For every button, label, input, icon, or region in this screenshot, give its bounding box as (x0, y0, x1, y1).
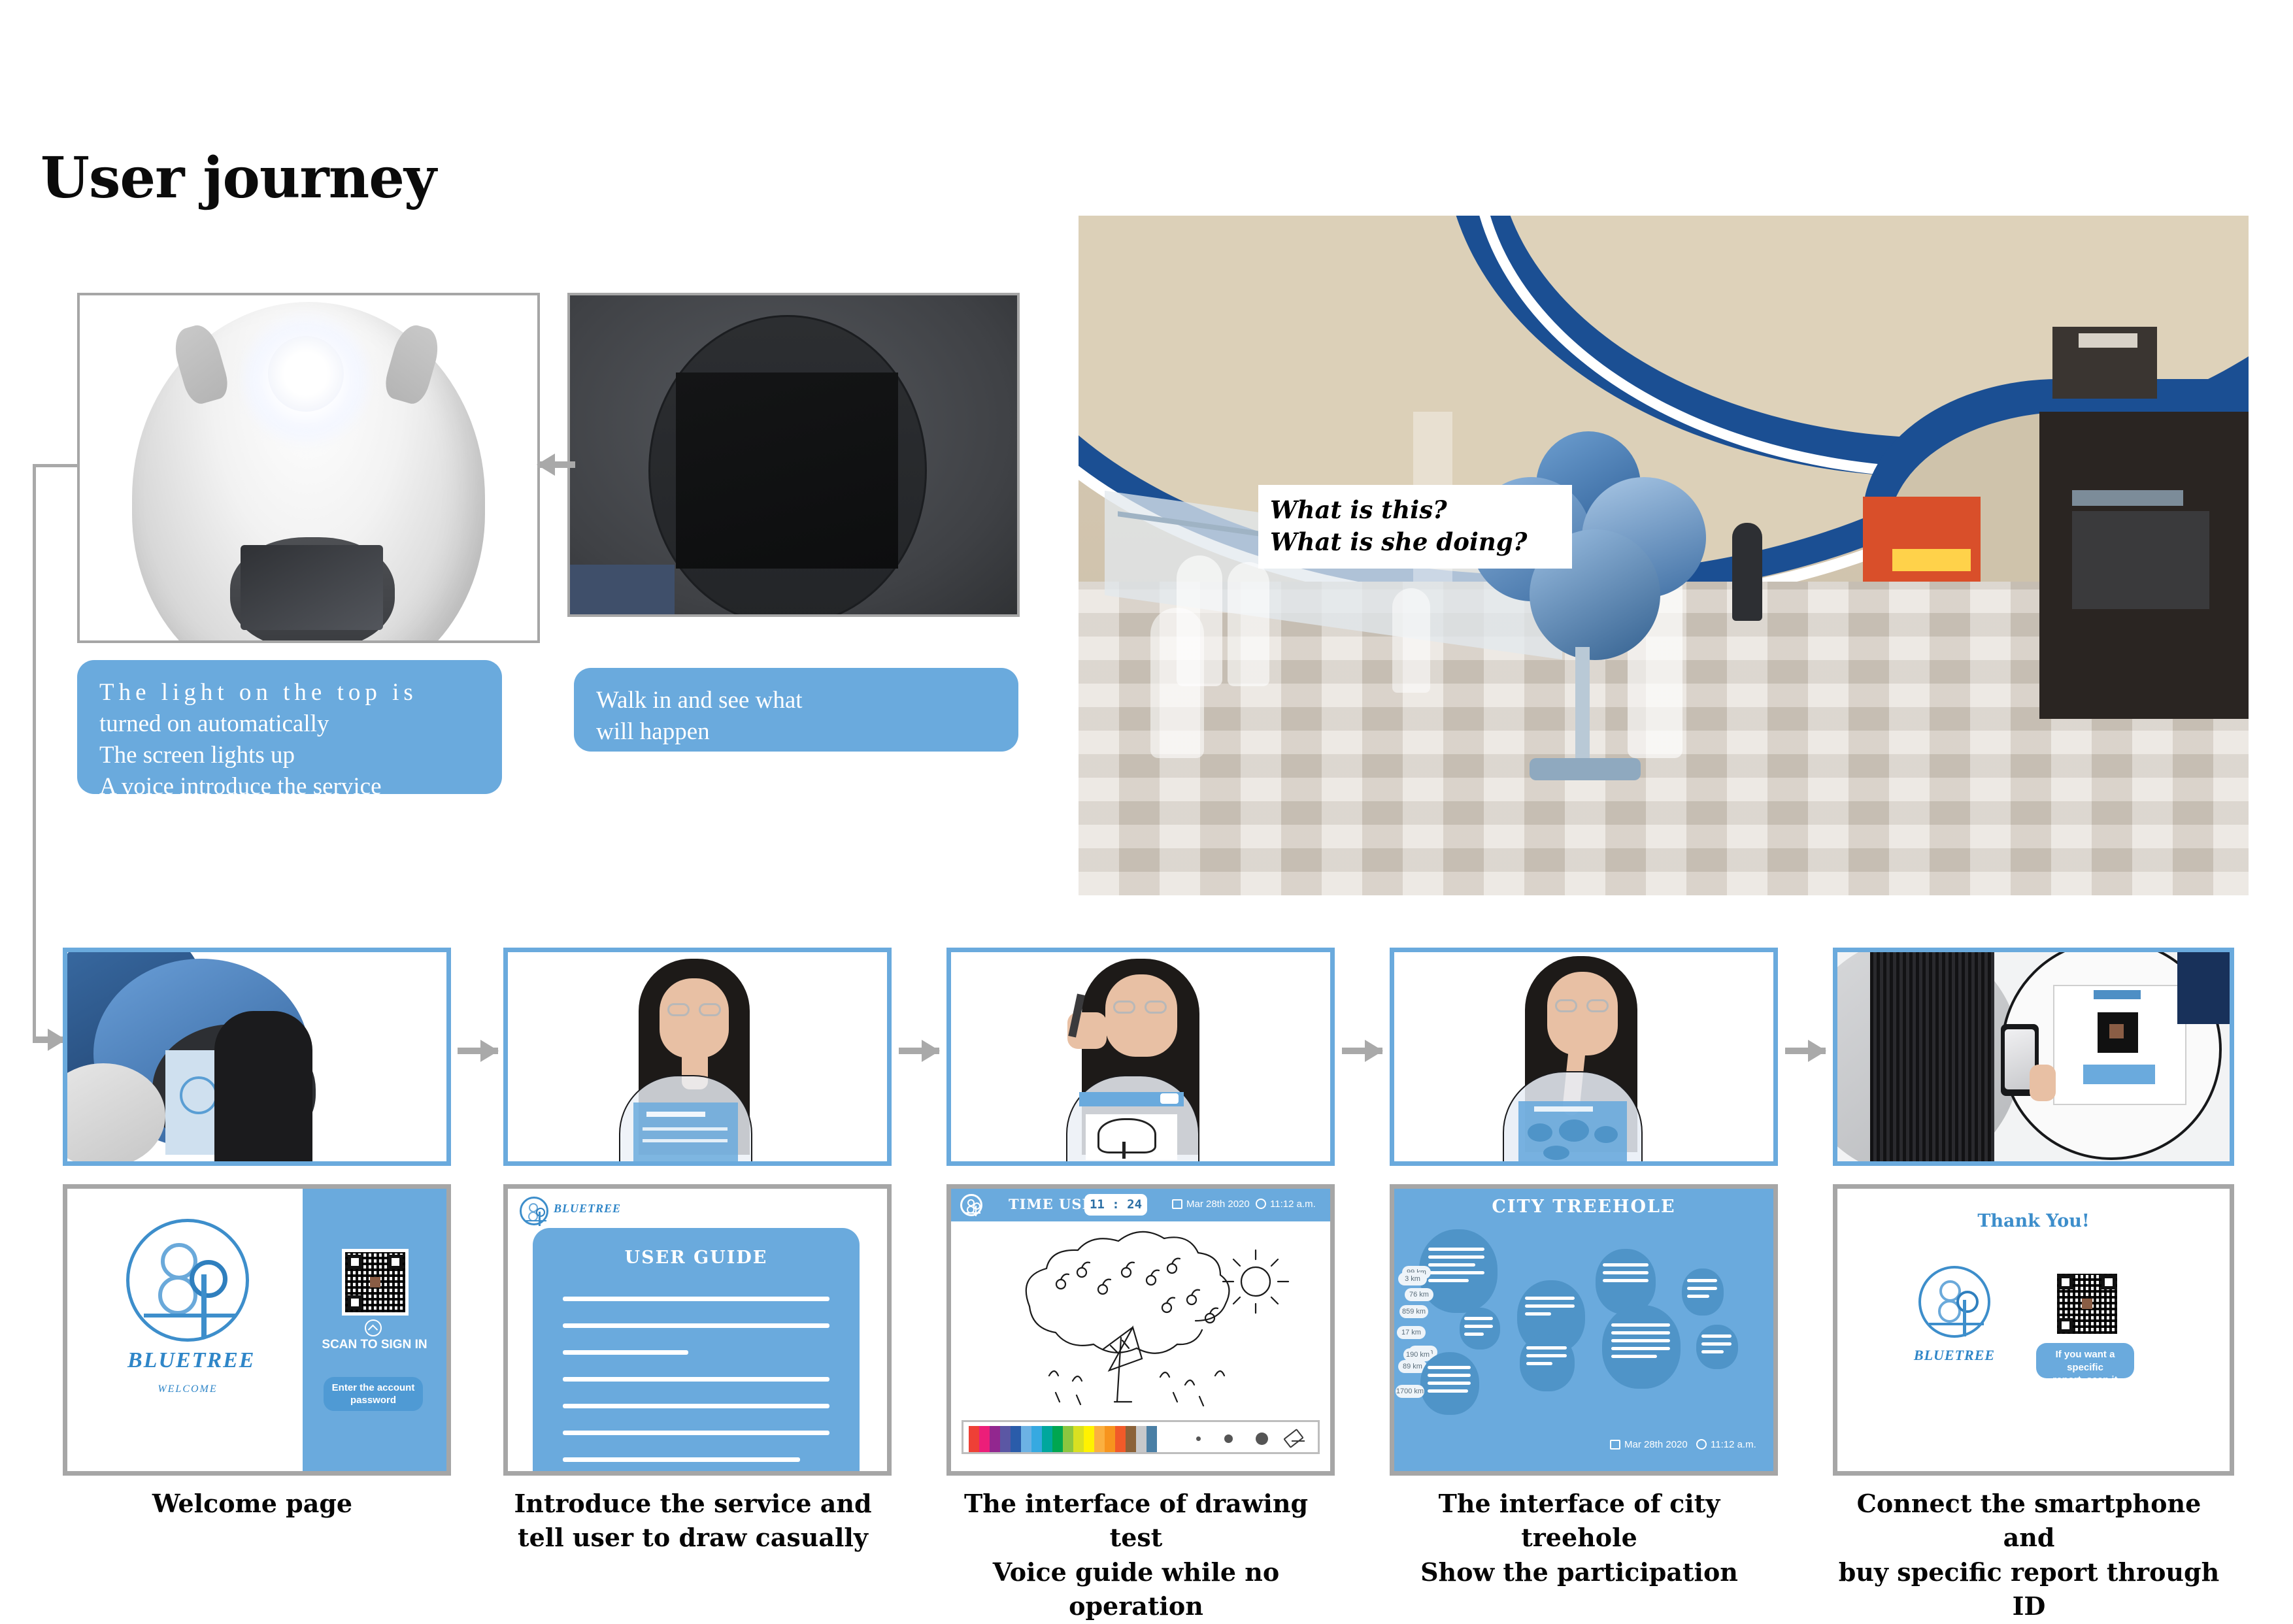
bubble-text-line (1428, 1382, 1471, 1385)
bubble-text-line (1611, 1339, 1670, 1342)
bubble-text-line (1526, 1346, 1567, 1350)
guide-rule-line (563, 1350, 688, 1355)
pod-screen-render (567, 293, 1020, 617)
step-caption: Introduce the service andtell user to dr… (503, 1487, 882, 1555)
bubble-text-line (1428, 1279, 1469, 1282)
bubble-text-line (1464, 1325, 1493, 1328)
bubble-text-line (1687, 1279, 1717, 1282)
enter-account-password-button[interactable]: Enter the account password (324, 1377, 423, 1411)
drawing-canvas[interactable] (951, 1221, 1330, 1411)
connector-vertical (33, 464, 36, 1039)
bubble-text-line (1428, 1374, 1471, 1377)
screen-user-guide[interactable]: BLUETREE USER GUIDE (503, 1184, 892, 1476)
tree-house-sketch (951, 1221, 1330, 1411)
palette-swatch[interactable] (979, 1426, 990, 1452)
bubble-text-line (1611, 1331, 1670, 1334)
brush-size-large[interactable] (1256, 1433, 1268, 1445)
signin-qr-code[interactable] (342, 1249, 409, 1316)
bubble-text-line (1701, 1350, 1724, 1353)
thank-you-brand: BLUETREE (1911, 1347, 1998, 1364)
screen-city-treehole[interactable]: CITY TREEHOLE 99 km859 km3 km76 km17 km8… (1390, 1184, 1778, 1476)
palette-swatch[interactable] (1031, 1426, 1042, 1452)
step-caption: The interface of city treeholeShow the p… (1390, 1487, 1769, 1589)
bubble-text-line (1464, 1317, 1493, 1320)
bubble-text-line (1428, 1255, 1484, 1259)
palette-swatch[interactable] (1115, 1426, 1126, 1452)
brush-size-group[interactable] (1196, 1426, 1268, 1451)
treehole-calendar-icon (1610, 1440, 1620, 1450)
caption-line-1: The interface of drawing test (964, 1489, 1308, 1552)
clock-icon (1256, 1199, 1266, 1209)
user-guide-panel: USER GUIDE (533, 1228, 860, 1476)
palette-swatch[interactable] (1105, 1426, 1115, 1452)
btn-line-1: Enter the account (332, 1382, 415, 1393)
bubble-text-line (1603, 1263, 1649, 1267)
user-guide-title: USER GUIDE (533, 1228, 860, 1268)
palette-swatch[interactable] (1021, 1426, 1031, 1452)
screen-welcome-page[interactable]: BLUETREE WELCOME SCAN TO SIGN IN Enter t… (63, 1184, 451, 1476)
bubble-text-line (1464, 1333, 1484, 1336)
bubble-text-line (1526, 1354, 1567, 1357)
palette-swatch[interactable] (1084, 1426, 1094, 1452)
speech-line-1: What is this? (1270, 494, 1572, 526)
treehole-date: Mar 28th 2020 (1624, 1439, 1688, 1450)
time-used-value: 11 : 24 (1084, 1194, 1147, 1216)
page-title: User journey (41, 145, 436, 211)
palette-swatch[interactable] (1136, 1426, 1146, 1452)
bubble-text-line (1603, 1279, 1649, 1282)
guide-rule-line (563, 1404, 829, 1408)
treehole-distance-tag: 1700 km (1396, 1385, 1424, 1398)
treehole-bubble[interactable] (1520, 1334, 1575, 1391)
caption-line-1: The light on the top is (99, 677, 482, 708)
bubble-text-line (1428, 1248, 1484, 1251)
treehole-distance-tag: 17 km (1397, 1326, 1426, 1339)
caption-line-2: buy specific report through ID (1839, 1557, 2220, 1621)
bluetree-logo-icon (1918, 1266, 1990, 1338)
bubble-text-line (1701, 1342, 1732, 1346)
treehole-bubble[interactable] (1420, 1352, 1479, 1415)
color-palette[interactable] (969, 1426, 1157, 1451)
bubble-text-line (1525, 1304, 1575, 1308)
caption-line-1: The interface of city treehole (1439, 1489, 1720, 1552)
guide-rule-line (563, 1297, 829, 1301)
palette-swatch[interactable] (1000, 1426, 1011, 1452)
guide-rule-line (563, 1377, 829, 1382)
bluetree-logo-icon (126, 1219, 249, 1342)
caption-bubble-walkin: Walk in and see what will happen (574, 668, 1018, 752)
bubble-text-line (1687, 1295, 1709, 1298)
speech-bubble: What is this? What is she doing? (1258, 485, 1572, 569)
note-line-2: report, scan it (2052, 1374, 2117, 1385)
calendar-icon (1172, 1199, 1182, 1209)
bubble-text-line (1701, 1334, 1732, 1338)
bubble-text-line (1603, 1271, 1649, 1274)
btn-line-2: password (350, 1395, 396, 1406)
photo-user-scanning-qr (1833, 948, 2234, 1166)
caption-walkin-line-2: will happen (596, 716, 999, 748)
connector-top (33, 464, 78, 467)
photo-user-approaching-pod (63, 948, 451, 1166)
caption-line-2: Show the participation (1420, 1557, 1738, 1587)
treehole-distance-tag: 76 km (1405, 1288, 1433, 1301)
flow-arrow-3 (1342, 1048, 1382, 1054)
step-caption: Welcome page (63, 1487, 442, 1521)
welcome-subtitle: WELCOME (127, 1384, 248, 1395)
photo-user-drawing (946, 948, 1335, 1166)
photo-user-reading-guide (503, 948, 892, 1166)
bubble-text-line (1525, 1297, 1575, 1300)
palette-swatch[interactable] (969, 1426, 979, 1452)
eraser-icon[interactable] (1285, 1430, 1305, 1444)
palette-swatch[interactable] (1052, 1426, 1063, 1452)
caption-line-1: Connect the smartphone and (1857, 1489, 2201, 1552)
bluetree-logo-icon-small (960, 1194, 982, 1216)
report-qr-code[interactable] (2057, 1274, 2117, 1334)
caption-line-3: The screen lights up (99, 740, 482, 771)
drawing-toolbar-top: TIME USED 11 : 24 Mar 28th 2020 11:12 a.… (951, 1189, 1330, 1221)
bubble-text-line (1611, 1355, 1657, 1358)
bubble-text-line (1687, 1287, 1717, 1290)
bubble-text-line (1526, 1362, 1552, 1365)
bubble-text-line (1611, 1323, 1670, 1327)
flow-arrow-2 (899, 1048, 939, 1054)
palette-swatch[interactable] (1011, 1426, 1021, 1452)
step-caption: Connect the smartphone andbuy specific r… (1833, 1487, 2225, 1624)
flow-arrow-1 (458, 1048, 498, 1054)
caption-line-1: Welcome page (152, 1489, 352, 1518)
treehole-clock-icon (1696, 1439, 1707, 1450)
guide-rule-line (563, 1323, 829, 1328)
bubble-text-line (1611, 1347, 1670, 1350)
palette-swatch[interactable] (1073, 1426, 1084, 1452)
palette-swatch[interactable] (1126, 1426, 1136, 1452)
bubble-text-line (1525, 1312, 1551, 1316)
caption-walkin-line-1: Walk in and see what (596, 685, 999, 716)
connector-arrow-into-photo1 (33, 1036, 65, 1043)
caption-line-2: turned on automatically (99, 708, 482, 740)
screen-drawing-test[interactable]: TIME USED 11 : 24 Mar 28th 2020 11:12 a.… (946, 1184, 1335, 1476)
bubble-text-line (1428, 1263, 1475, 1267)
drawing-tool-bar[interactable] (962, 1420, 1320, 1454)
flow-arrow-left (537, 461, 575, 468)
flow-arrow-4 (1785, 1048, 1826, 1054)
brush-size-small[interactable] (1196, 1436, 1201, 1441)
bubble-text-line (1428, 1389, 1468, 1393)
scan-to-sign-in-label: SCAN TO SIGN IN (316, 1338, 433, 1352)
welcome-brand: BLUETREE (127, 1348, 248, 1373)
bubble-text-line (1428, 1366, 1471, 1369)
treehole-bubble[interactable] (1696, 1325, 1738, 1369)
caption-line-2: tell user to draw casually (518, 1523, 868, 1552)
caption-line-4: A voice introduce the service (99, 771, 482, 803)
palette-swatch[interactable] (1042, 1426, 1052, 1452)
treehole-bubble[interactable] (1596, 1249, 1656, 1314)
drawing-date: Mar 28th 2020 (1186, 1199, 1250, 1210)
treehole-time: 11:12 a.m. (1711, 1439, 1756, 1450)
pod-light-on-render (77, 293, 540, 643)
treehole-bubble[interactable] (1460, 1308, 1500, 1350)
treehole-distance-tag: 3 km (1398, 1272, 1427, 1285)
palette-swatch[interactable] (1063, 1426, 1073, 1452)
note-line-1: If you want a specific (2056, 1349, 2115, 1373)
speech-line-2: What is she doing? (1270, 526, 1572, 558)
treehole-distance-tag: 859 km (1399, 1305, 1428, 1318)
bluetree-logo-icon-small (520, 1197, 548, 1225)
palette-swatch[interactable] (1146, 1426, 1157, 1452)
mall-scene-photo (1079, 216, 2249, 895)
palette-swatch[interactable] (1094, 1426, 1105, 1452)
guide-rule-line (563, 1431, 829, 1435)
caption-line-2: Voice guide while no operation (993, 1557, 1280, 1621)
step-caption: The interface of drawing testVoice guide… (946, 1487, 1326, 1624)
caption-line-1: Introduce the service and (514, 1489, 871, 1518)
treehole-bubble[interactable] (1419, 1229, 1498, 1313)
palette-swatch[interactable] (990, 1426, 1000, 1452)
caption-bubble-light: The light on the top is turned on automa… (77, 660, 502, 794)
scan-chevron-icon (365, 1319, 382, 1336)
treehole-bubble[interactable] (1682, 1268, 1724, 1316)
guide-brand: BLUETREE (554, 1202, 621, 1216)
brush-size-medium[interactable] (1224, 1434, 1233, 1443)
drawing-time: 11:12 a.m. (1270, 1199, 1316, 1210)
thank-you-title: Thank You! (1837, 1189, 2230, 1231)
screen-thank-you[interactable]: Thank You! BLUETREE If you want a specif… (1833, 1184, 2234, 1476)
bubble-text-line (1428, 1271, 1484, 1274)
photo-user-viewing-treehole (1390, 948, 1778, 1166)
treehole-bubble[interactable] (1602, 1305, 1681, 1389)
scan-for-report-note: If you want a specific report, scan it (2036, 1343, 2134, 1378)
guide-rule-line (563, 1457, 800, 1462)
